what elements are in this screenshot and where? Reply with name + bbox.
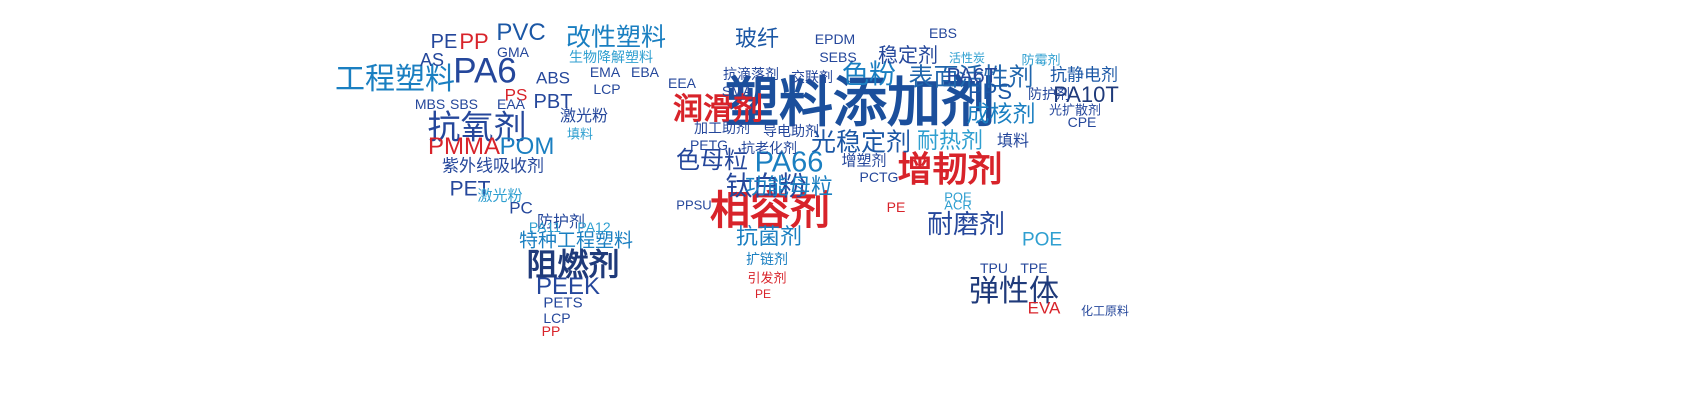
word-pe-bottom: PE bbox=[755, 288, 771, 300]
word-tpu: TPU bbox=[980, 261, 1008, 275]
word-laser-powder-1: 激光粉 bbox=[560, 109, 608, 125]
word-mbs: MBS bbox=[415, 97, 445, 111]
word-conductive-aid: 导电助剂 bbox=[763, 124, 819, 138]
word-sebs: SEBS bbox=[819, 50, 856, 64]
word-laser-powder-2: 激光粉 bbox=[477, 189, 522, 204]
word-toughening-agent: 增韧剂 bbox=[897, 153, 1002, 188]
word-epdm: EPDM bbox=[815, 32, 855, 46]
word-uv-absorber: 紫外线吸收剂 bbox=[442, 158, 544, 175]
word-chain-extender: 扩链剂 bbox=[746, 252, 788, 266]
word-eva: EVA bbox=[1028, 300, 1061, 317]
word-nucleating-agent: 成核剂 bbox=[967, 103, 1036, 126]
word-pp-top: PP bbox=[459, 31, 488, 53]
word-pom: POM bbox=[500, 135, 555, 159]
word-modified-plastics: 改性塑料 bbox=[566, 26, 666, 51]
word-heat-resistant: 耐热剂 bbox=[917, 130, 983, 152]
word-antibacterial: 抗菌剂 bbox=[736, 226, 802, 248]
word-antistatic: 抗静电剂 bbox=[1050, 67, 1118, 84]
word-pe-mid: PE bbox=[887, 200, 906, 214]
word-tpe: TPE bbox=[1020, 261, 1047, 275]
word-acr: ACR bbox=[944, 199, 971, 212]
word-as: AS bbox=[420, 51, 444, 69]
word-wear-resistant: 耐磨剂 bbox=[927, 211, 1005, 237]
word-sma: SMA bbox=[722, 84, 752, 98]
word-anti-aging: 抗老化剂 bbox=[741, 141, 797, 155]
word-eea: EEA bbox=[668, 76, 696, 90]
word-activated-carbon: 活性炭 bbox=[949, 52, 985, 64]
word-petg: PETG bbox=[690, 138, 728, 152]
word-anti-drip: 抗滴落剂 bbox=[723, 67, 779, 81]
word-eba: EBA bbox=[631, 65, 659, 79]
word-filler-1: 填料 bbox=[567, 128, 593, 141]
word-ebs: EBS bbox=[929, 26, 957, 40]
word-glass-fiber: 玻纤 bbox=[735, 28, 779, 50]
word-plasticizer: 增塑剂 bbox=[841, 154, 886, 169]
word-poe-lower: POE bbox=[1022, 231, 1062, 250]
word-pe-top: PE bbox=[431, 32, 458, 52]
word-pctg: PCTG bbox=[860, 170, 899, 184]
word-pvc: PVC bbox=[496, 21, 545, 45]
word-biodegradable-plastics: 生物降解塑料 bbox=[569, 50, 653, 64]
word-pa11: PA11 bbox=[529, 220, 561, 234]
word-protective-agent-2: 防护剂 bbox=[1028, 87, 1070, 101]
word-gma: GMA bbox=[497, 45, 529, 59]
word-antifungal: 防霉剂 bbox=[1021, 54, 1060, 67]
word-cpe: CPE bbox=[1068, 115, 1097, 129]
word-pp-bottom: PP bbox=[542, 324, 561, 338]
word-pets: PETS bbox=[543, 296, 582, 311]
word-sbs: SBS bbox=[450, 97, 478, 111]
word-eaa: EAA bbox=[497, 97, 525, 111]
word-cloud-canvas: 塑料添加剂相容剂增韧剂润滑剂阻燃剂工程塑料抗氧剂表面活性剂弹性体光稳定剂改性塑料… bbox=[0, 0, 1707, 400]
word-abs: ABS bbox=[536, 70, 570, 87]
word-filler-2: 填料 bbox=[997, 134, 1029, 150]
word-functional-masterbatch: 功能母粒 bbox=[745, 176, 833, 198]
word-pps: PPS bbox=[968, 81, 1012, 103]
word-stabilizer: 稳定剂 bbox=[878, 46, 938, 66]
word-ema: EMA bbox=[590, 65, 620, 79]
word-pa12: PA12 bbox=[577, 220, 610, 234]
word-ppsu: PPSU bbox=[676, 199, 711, 212]
word-pmma: PMMA bbox=[428, 135, 500, 159]
word-crosslinker: 交联剂 bbox=[791, 70, 833, 84]
word-processing-aid: 加工助剂 bbox=[694, 121, 750, 135]
word-initiator: 引发剂 bbox=[747, 272, 786, 285]
word-lcp-top: LCP bbox=[593, 82, 620, 96]
word-chemical-raw-materials: 化工原料 bbox=[1081, 305, 1129, 317]
